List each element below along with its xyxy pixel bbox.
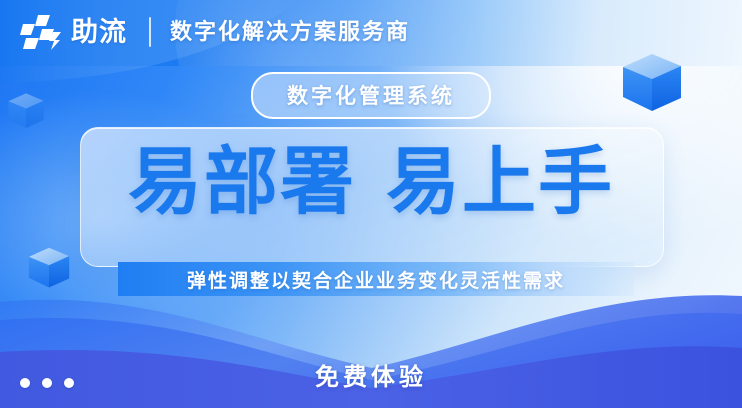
carousel-dot-3[interactable] xyxy=(64,378,74,388)
free-trial-cta[interactable]: 免费体验 xyxy=(0,357,742,392)
headline-part-2: 易上手 xyxy=(386,140,614,223)
brand-tagline: 数字化解决方案服务商 xyxy=(170,12,410,52)
hero-description: 弹性调整以契合企业业务变化灵活性需求 xyxy=(187,266,565,293)
description-bar: 弹性调整以契合企业业务变化灵活性需求 xyxy=(118,262,634,296)
carousel-dots[interactable] xyxy=(20,378,74,388)
brand-lockup: 助流 数字化解决方案服务商 xyxy=(20,9,410,55)
carousel-dot-2[interactable] xyxy=(42,378,52,388)
hero-headline: 易部署易上手 xyxy=(0,143,742,221)
system-badge: 数字化管理系统 xyxy=(251,72,491,119)
zhuliu-lightning-logo-icon xyxy=(20,12,64,52)
carousel-dot-1[interactable] xyxy=(20,378,30,388)
brand-name: 助流 xyxy=(71,12,127,52)
promo-banner: 助流 数字化解决方案服务商 数字化管理系统 xyxy=(0,0,742,408)
headline-part-1: 易部署 xyxy=(128,140,356,223)
badge-row: 数字化管理系统 xyxy=(0,72,742,119)
brand-separator xyxy=(149,17,151,47)
